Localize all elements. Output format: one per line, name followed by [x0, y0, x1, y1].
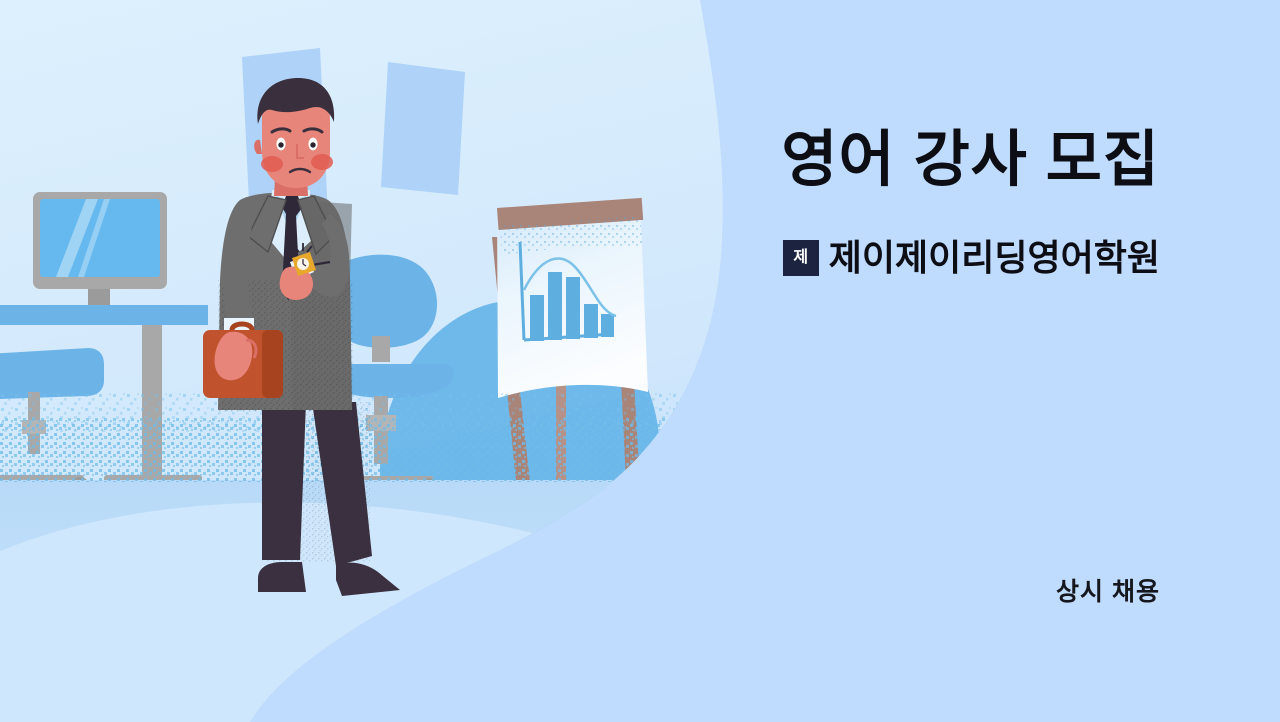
chart-bar-2 — [548, 272, 562, 340]
company-name: 제이제이리딩영어학원 — [829, 240, 1160, 276]
trouser-texture — [262, 402, 370, 562]
chart-bar-4 — [584, 304, 598, 338]
office-illustration — [0, 0, 760, 722]
briefcase-shade — [262, 330, 283, 398]
cheek-left — [261, 156, 283, 172]
floor-hill — [0, 503, 760, 722]
shoe-left — [258, 562, 306, 592]
illustration-area — [0, 0, 760, 722]
text-panel: 영어 강사 모집 제 제이제이리딩영어학원 상시 채용 — [700, 0, 1280, 722]
wall-poster-small — [381, 62, 465, 195]
job-posting-banner: 영어 강사 모집 제 제이제이리딩영어학원 상시 채용 — [0, 0, 1280, 722]
chart-bar-3 — [566, 277, 580, 339]
pupil-right — [310, 142, 315, 147]
page-title: 영어 강사 모집 — [781, 126, 1160, 193]
chart-bar-5 — [601, 314, 614, 337]
desk-top — [0, 305, 208, 325]
company-logo-badge: 제 — [783, 240, 819, 276]
company-row: 제 제이제이리딩영어학원 — [783, 240, 1160, 276]
floor-speckle-light — [0, 392, 760, 432]
chair-right-neck — [372, 336, 390, 362]
monitor-screen — [40, 199, 160, 277]
cheek-right — [311, 154, 333, 170]
pupil-left — [278, 142, 283, 147]
chart-bar-1 — [530, 295, 544, 341]
hiring-status-note: 상시 채용 — [1056, 572, 1160, 608]
